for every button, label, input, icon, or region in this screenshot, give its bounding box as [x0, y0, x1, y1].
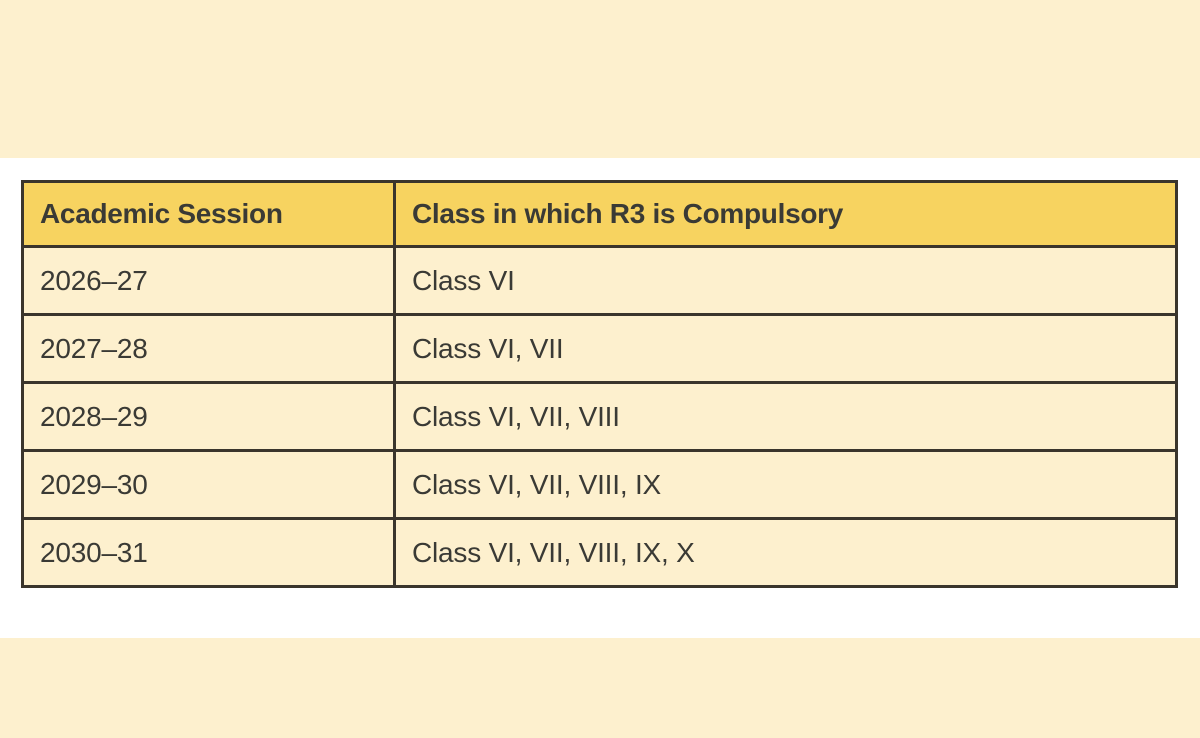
cell-academic-session: 2026–27	[23, 247, 395, 315]
table-header: Academic Session Class in which R3 is Co…	[23, 182, 1177, 247]
cell-academic-session: 2030–31	[23, 519, 395, 587]
cell-compulsory-class: Class VI, VII, VIII	[395, 383, 1177, 451]
cell-compulsory-class: Class VI, VII	[395, 315, 1177, 383]
schedule-table-container: Academic Session Class in which R3 is Co…	[21, 180, 1178, 588]
table-header-row: Academic Session Class in which R3 is Co…	[23, 182, 1177, 247]
table-row: 2029–30 Class VI, VII, VIII, IX	[23, 451, 1177, 519]
cell-compulsory-class: Class VI, VII, VIII, IX, X	[395, 519, 1177, 587]
cell-academic-session: 2029–30	[23, 451, 395, 519]
column-header-compulsory-class: Class in which R3 is Compulsory	[395, 182, 1177, 247]
top-background-band	[0, 0, 1200, 158]
cell-compulsory-class: Class VI, VII, VIII, IX	[395, 451, 1177, 519]
cell-academic-session: 2027–28	[23, 315, 395, 383]
table-body: 2026–27 Class VI 2027–28 Class VI, VII 2…	[23, 247, 1177, 587]
compulsory-class-schedule-table: Academic Session Class in which R3 is Co…	[21, 180, 1178, 588]
table-row: 2027–28 Class VI, VII	[23, 315, 1177, 383]
table-row: 2030–31 Class VI, VII, VIII, IX, X	[23, 519, 1177, 587]
table-row: 2026–27 Class VI	[23, 247, 1177, 315]
column-header-academic-session: Academic Session	[23, 182, 395, 247]
bottom-background-band	[0, 638, 1200, 738]
table-row: 2028–29 Class VI, VII, VIII	[23, 383, 1177, 451]
cell-academic-session: 2028–29	[23, 383, 395, 451]
cell-compulsory-class: Class VI	[395, 247, 1177, 315]
